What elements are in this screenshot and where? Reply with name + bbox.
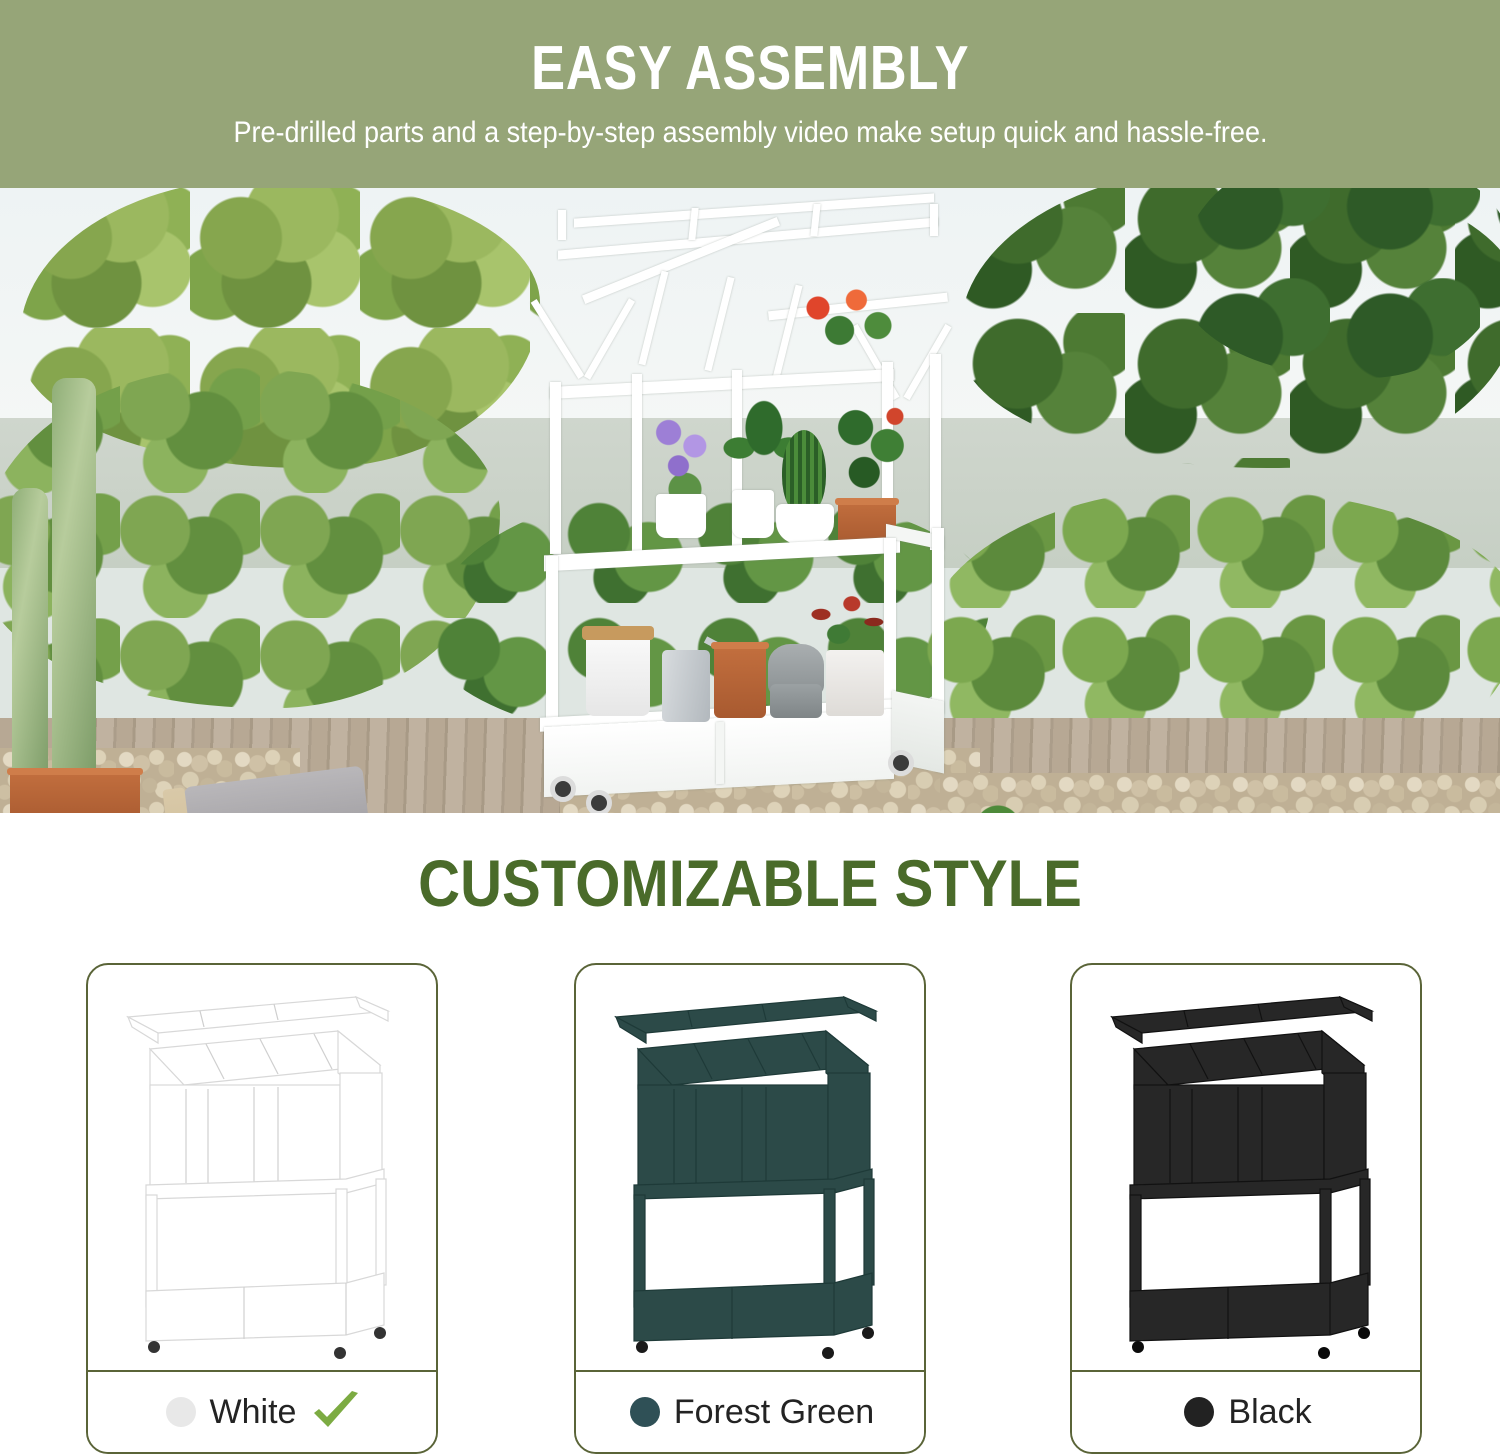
product-feature-page: EASY ASSEMBLY Pre-drilled parts and a st… bbox=[0, 0, 1500, 1454]
cactus-pot bbox=[10, 768, 140, 813]
red-leaf-plant bbox=[788, 584, 898, 660]
color-dot-white bbox=[166, 1397, 196, 1427]
color-dot-forest-green bbox=[630, 1397, 660, 1427]
greenhouse-cart-icon bbox=[1072, 973, 1422, 1373]
tall-cactus-arm bbox=[12, 488, 48, 788]
cabinet-top-rail bbox=[550, 369, 894, 399]
cabinet-post-mid-l bbox=[632, 374, 642, 552]
potted-tree bbox=[822, 394, 918, 506]
color-options-row: White bbox=[0, 963, 1500, 1454]
banner-subtitle: Pre-drilled parts and a step-by-step ass… bbox=[233, 116, 1267, 150]
caster-wheel bbox=[888, 750, 914, 776]
orchid-pot bbox=[656, 494, 706, 538]
hero-lifestyle-photo bbox=[0, 188, 1500, 813]
stone-pot-small bbox=[770, 684, 822, 718]
roof-gable-left bbox=[531, 299, 585, 379]
roof-rafter bbox=[704, 277, 734, 372]
white-bucket bbox=[586, 634, 650, 716]
easy-assembly-banner: EASY ASSEMBLY Pre-drilled parts and a st… bbox=[0, 0, 1500, 188]
color-label-white: White bbox=[210, 1393, 297, 1432]
banner-title: EASY ASSEMBLY bbox=[531, 38, 969, 100]
cabinet-post-far-right bbox=[930, 354, 941, 550]
tall-cactus-main bbox=[52, 378, 96, 778]
color-option-card-white[interactable]: White bbox=[86, 963, 438, 1454]
cabinet-post-left bbox=[550, 382, 561, 554]
roof-gable-left bbox=[584, 298, 635, 379]
checkmark-icon bbox=[310, 1391, 362, 1433]
roof-lid-right-edge bbox=[930, 204, 938, 236]
cart-figure-forest-green bbox=[576, 973, 926, 1373]
red-flowers-top bbox=[782, 276, 902, 356]
planter-box-panel-divider bbox=[716, 722, 724, 784]
palm-pot bbox=[732, 490, 774, 538]
color-dot-black bbox=[1184, 1397, 1214, 1427]
caster-wheel bbox=[586, 790, 612, 813]
roof-lid-left-edge bbox=[558, 210, 566, 240]
color-label-forest-green: Forest Green bbox=[674, 1393, 874, 1432]
greenhouse-cart-icon bbox=[576, 973, 926, 1373]
watering-can bbox=[662, 650, 710, 722]
orchid-purple bbox=[644, 410, 726, 500]
color-option-card-forest-green[interactable]: Forest Green bbox=[574, 963, 926, 1454]
caster-wheel bbox=[550, 776, 576, 802]
swatch-footer-forest-green: Forest Green bbox=[576, 1370, 926, 1452]
roof-rafter bbox=[638, 271, 668, 366]
customizable-style-title: CUSTOMIZABLE STYLE bbox=[90, 845, 1410, 921]
swatch-footer-black: Black bbox=[1072, 1370, 1422, 1452]
swatch-footer-white: White bbox=[88, 1370, 438, 1452]
terracotta-pot-stack bbox=[714, 642, 766, 718]
roof-slope-left-rail bbox=[582, 217, 780, 304]
cart-figure-black bbox=[1072, 973, 1422, 1373]
cart-figure-white bbox=[88, 973, 438, 1373]
leg-back-right bbox=[932, 528, 944, 714]
cactus-white-pot bbox=[776, 504, 834, 544]
greenhouse-cart-hero bbox=[520, 198, 960, 813]
greenhouse-cart-icon bbox=[88, 973, 438, 1373]
middle-shelf bbox=[544, 537, 900, 572]
color-label-black: Black bbox=[1228, 1393, 1311, 1432]
color-option-card-black[interactable]: Black bbox=[1070, 963, 1422, 1454]
bucket-lid bbox=[582, 626, 654, 640]
roof-gable-right bbox=[903, 324, 951, 400]
fabric-grow-bag bbox=[826, 650, 884, 716]
